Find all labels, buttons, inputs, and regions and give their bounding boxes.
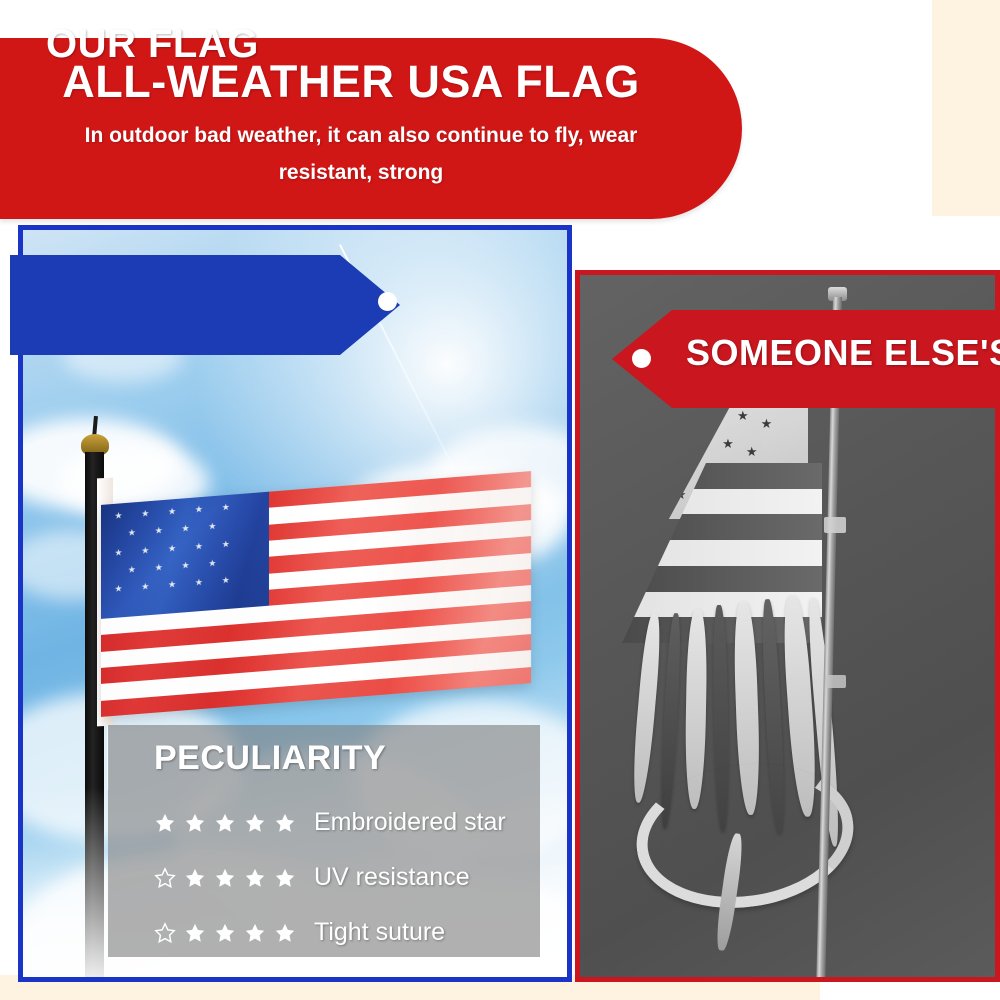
- star-filled-icon: [244, 867, 266, 889]
- flag-clip: [826, 675, 846, 688]
- us-flag-photo: ★ ★ ★ ★ ★ ★ ★ ★ ★ ★ ★ ★ ★ ★ ★ ★ ★ ★ ★ ★: [101, 471, 531, 717]
- infographic-stage: ALL-WEATHER USA FLAG In outdoor bad weat…: [0, 0, 1000, 1000]
- feature-row: UV resistance: [154, 850, 586, 905]
- star-rating: [154, 922, 314, 944]
- star-filled-icon: [214, 867, 236, 889]
- peculiarity-rows: Embroidered star UV resistance: [154, 795, 586, 960]
- star-filled-icon: [244, 812, 266, 834]
- star-filled-icon: [274, 867, 296, 889]
- feature-label: Embroidered star: [314, 808, 506, 837]
- flag-clip: [824, 517, 846, 533]
- star-filled-icon: [184, 812, 206, 834]
- flag-wave-shading: [101, 471, 531, 717]
- star-rating: [154, 812, 314, 834]
- feature-label: Tight suture: [314, 918, 445, 947]
- star-filled-icon: [184, 867, 206, 889]
- star-filled-icon: [214, 812, 236, 834]
- star-filled-icon: [244, 922, 266, 944]
- star-filled-icon: [154, 812, 176, 834]
- star-filled-icon: [184, 922, 206, 944]
- star-rating: [154, 867, 314, 889]
- feature-label: UV resistance: [314, 863, 470, 892]
- star-outline-icon: [154, 867, 176, 889]
- star-outline-icon: [154, 922, 176, 944]
- star-filled-icon: [214, 922, 236, 944]
- peculiarity-panel: PECULIARITY Embroidered star: [108, 725, 540, 957]
- arrow-dot-icon: [378, 292, 397, 311]
- arrow-dot-icon: [632, 349, 651, 368]
- star-filled-icon: [274, 922, 296, 944]
- our-flag-arrow-banner: [10, 255, 400, 355]
- peculiarity-title: PECULIARITY: [154, 739, 386, 778]
- feature-row: Embroidered star: [154, 795, 586, 850]
- star-filled-icon: [274, 812, 296, 834]
- our-flag-label: OUR FLAG: [46, 22, 259, 67]
- feature-row: Tight suture: [154, 905, 586, 960]
- page-subtitle: In outdoor bad weather, it can also cont…: [40, 118, 682, 192]
- someone-elses-label: SOMEONE ELSE'S: [686, 332, 1000, 374]
